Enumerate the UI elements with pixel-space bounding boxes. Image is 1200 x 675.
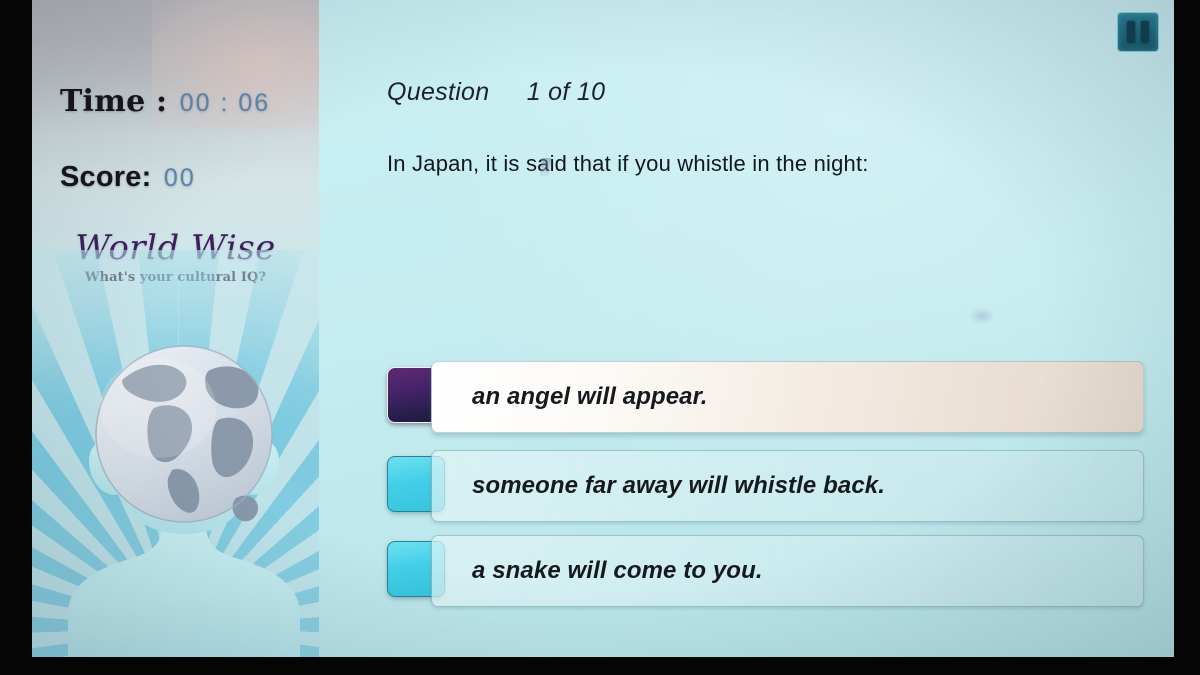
question-text: In Japan, it is said that if you whistle… xyxy=(387,151,869,177)
screen-smudge xyxy=(969,308,995,324)
answer-option-3[interactable]: a snake will come to you. xyxy=(387,535,1144,607)
question-counter-label: Question xyxy=(387,78,489,106)
answer-option-2-label: someone far away will whistle back. xyxy=(472,450,885,522)
pause-icon xyxy=(1127,21,1135,43)
head-globe-artwork xyxy=(50,262,318,657)
pause-button[interactable] xyxy=(1117,12,1159,52)
answer-option-1-label: an angel will appear. xyxy=(472,361,708,433)
time-label: Time : xyxy=(60,84,167,119)
answer-option-1[interactable]: an angel will appear. xyxy=(387,361,1144,433)
game-screen: Time : 00 : 06 Score: 00 World Wise What… xyxy=(0,0,1200,675)
question-counter: Question 1 of 10 xyxy=(387,78,605,107)
score-display: Score: 00 xyxy=(60,161,196,194)
game-panel: Time : 00 : 06 Score: 00 World Wise What… xyxy=(32,0,1174,657)
sidebar: Time : 00 : 06 Score: 00 World Wise What… xyxy=(32,0,319,657)
pause-icon xyxy=(1141,21,1149,43)
score-value: 00 xyxy=(164,164,196,192)
time-display: Time : 00 : 06 xyxy=(60,84,270,119)
score-label: Score: xyxy=(60,161,151,193)
time-value: 00 : 06 xyxy=(180,89,270,117)
question-counter-value: 1 of 10 xyxy=(527,78,606,106)
answer-option-2[interactable]: someone far away will whistle back. xyxy=(387,450,1144,522)
quiz-main: Question 1 of 10 In Japan, it is said th… xyxy=(319,0,1174,657)
answer-option-3-label: a snake will come to you. xyxy=(472,535,763,607)
